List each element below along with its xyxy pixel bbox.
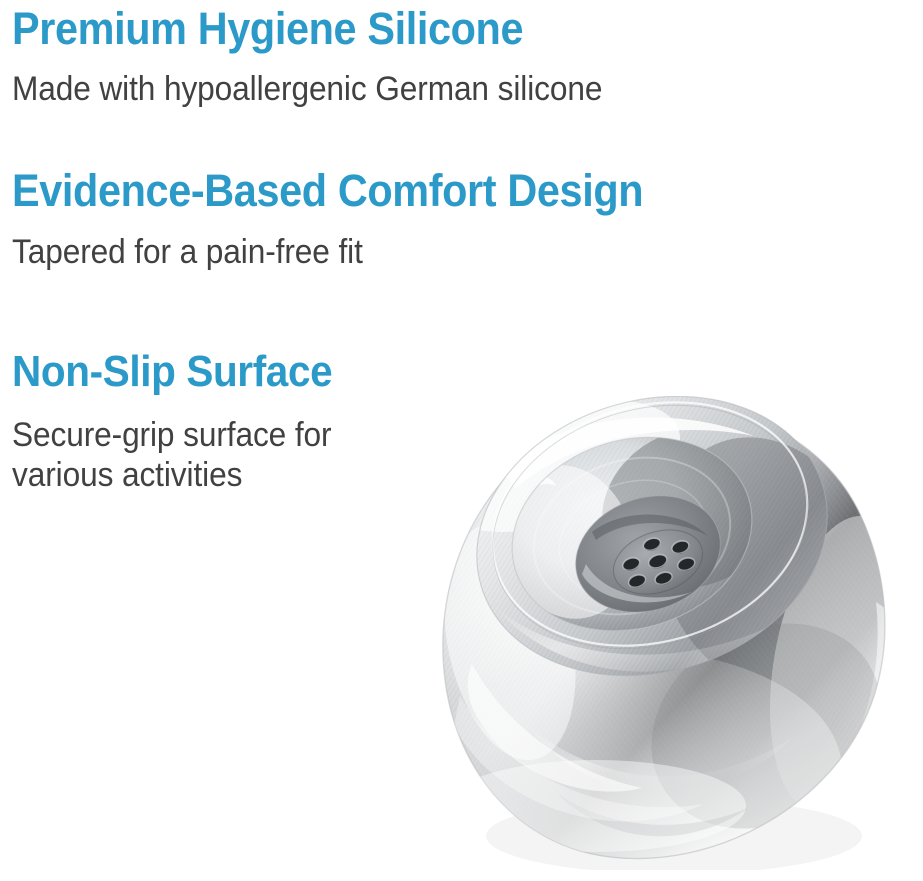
feature-subtext-1: Made with hypoallergenic German silicone: [12, 69, 812, 109]
silicone-ear-tip-photo: [436, 396, 900, 870]
feature-block-evidence-based-comfort-design: Evidence-Based Comfort Design Tapered fo…: [12, 168, 872, 272]
feature-subtext-3: Secure-grip surface for various activiti…: [12, 415, 412, 495]
feature-block-premium-hygiene-silicone: Premium Hygiene Silicone Made with hypoa…: [12, 6, 872, 109]
feature-heading-3: Non-Slip Surface: [12, 350, 408, 395]
feature-block-non-slip-surface: Non-Slip Surface Secure-grip surface for…: [12, 350, 442, 495]
feature-heading-1: Premium Hygiene Silicone: [12, 6, 803, 52]
product-feature-infographic: Premium Hygiene Silicone Made with hypoa…: [0, 0, 923, 881]
feature-subtext-3-line-1: Secure-grip surface for: [12, 415, 412, 455]
feature-subtext-2: Tapered for a pain-free fit: [12, 232, 812, 272]
feature-subtext-3-line-2: various activities: [12, 455, 412, 495]
feature-heading-2: Evidence-Based Comfort Design: [12, 168, 803, 214]
